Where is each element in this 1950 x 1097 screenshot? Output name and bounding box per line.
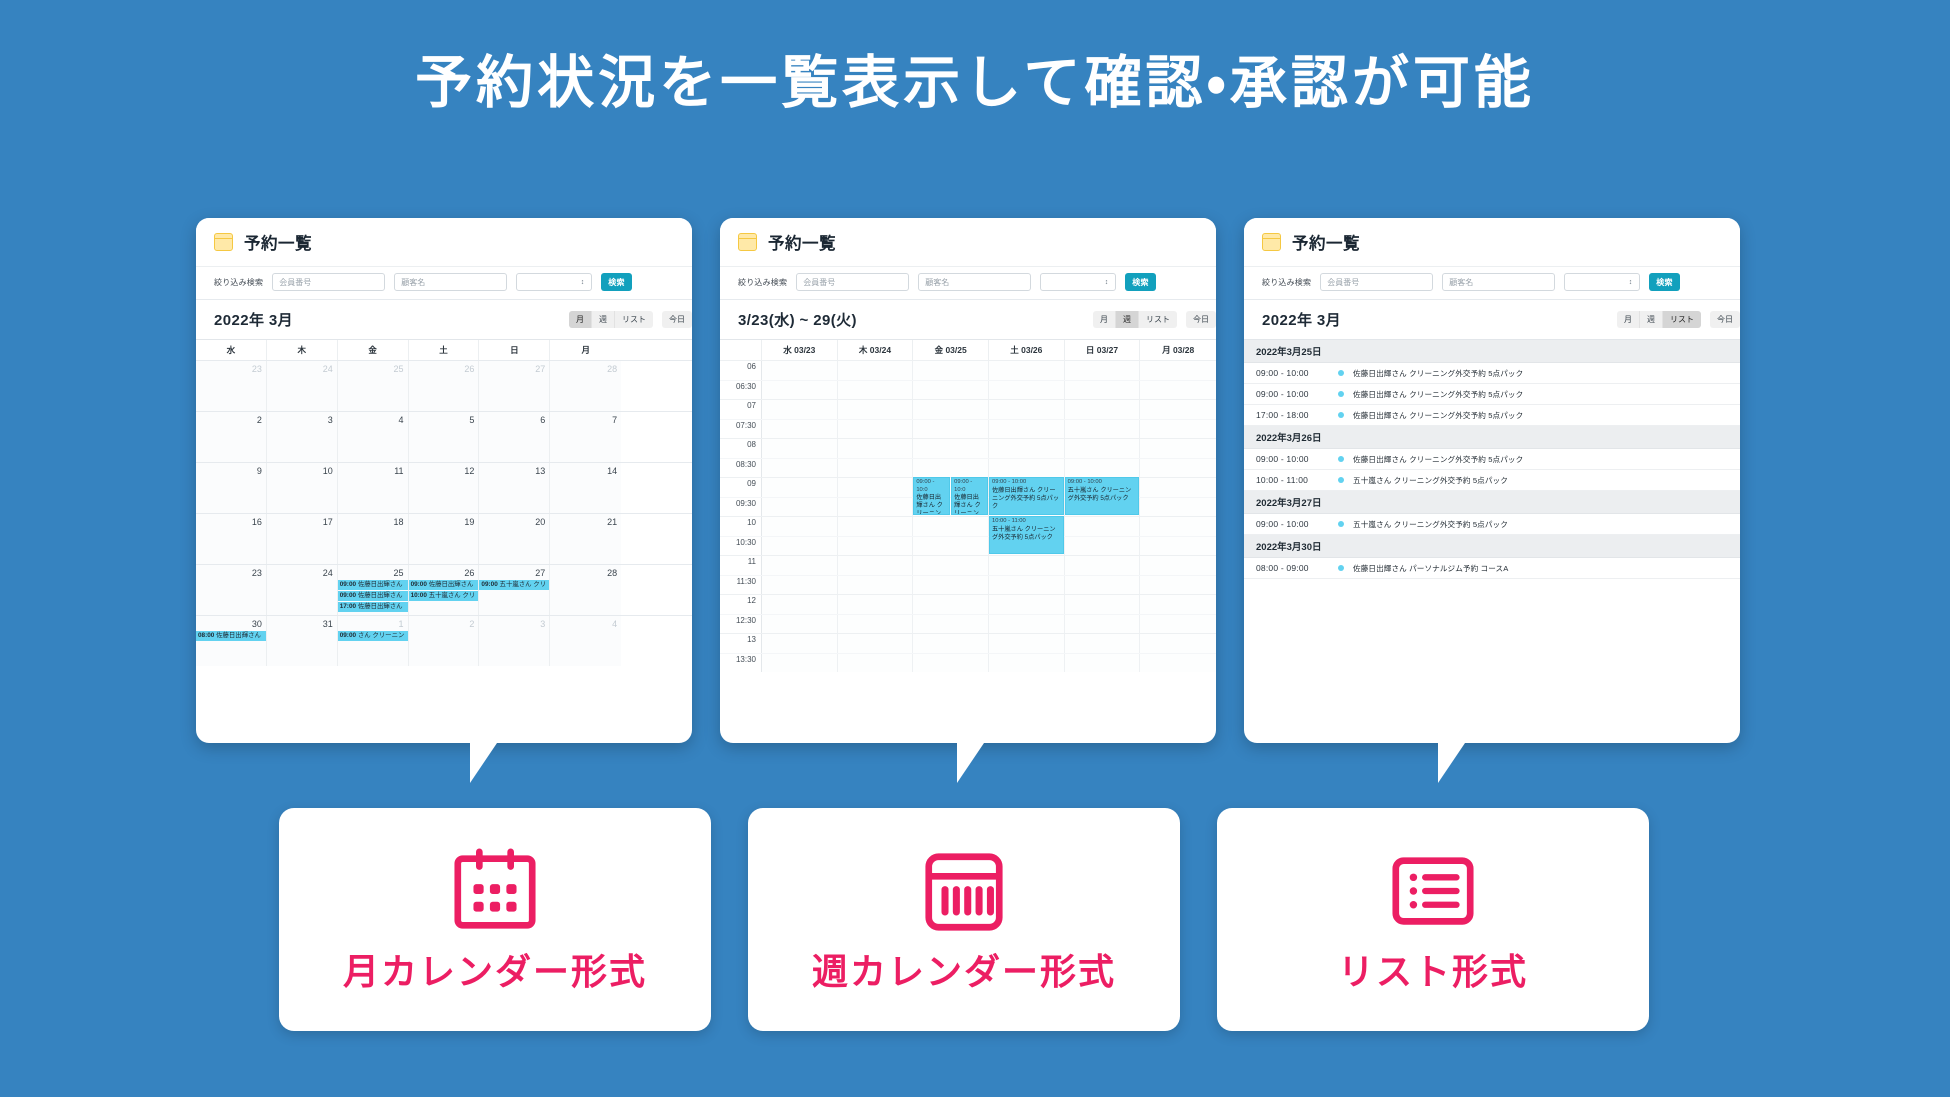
month-day-cell[interactable]: 18 [338, 514, 409, 564]
view-month-button[interactable]: 月 [1617, 311, 1640, 328]
member-no-input[interactable]: 会員番号 [1320, 273, 1433, 291]
week-slot-cell[interactable] [762, 420, 838, 439]
week-slot-cell[interactable] [762, 615, 838, 634]
week-slot-cell[interactable] [913, 498, 989, 517]
week-slot-cell[interactable] [1140, 556, 1216, 575]
week-slot-cell[interactable] [1140, 517, 1216, 536]
list-date-header: 2022年3月26日 [1244, 426, 1740, 449]
week-time-label: 07 [720, 400, 762, 419]
event-time: 08:00 [198, 632, 214, 639]
filter-label: 絞り込み検索 [214, 277, 263, 288]
week-slot-cell[interactable] [1065, 459, 1141, 478]
month-day-cell[interactable]: 31 [267, 616, 338, 666]
filter-select[interactable]: ↕ [516, 273, 592, 291]
day-number: 25 [338, 567, 408, 580]
feature-cards: 月カレンダー形式 週カレンダー形式 リスト形 [0, 808, 1950, 1038]
week-slot-cell[interactable] [989, 439, 1065, 458]
month-day-cell[interactable]: 6 [479, 412, 550, 462]
week-slot-cell[interactable] [913, 420, 989, 439]
month-day-cell[interactable]: 26 [409, 361, 480, 411]
week-slot-cell[interactable] [1140, 459, 1216, 478]
week-slot-cell[interactable] [838, 459, 914, 478]
week-day-header: 土 03/26 [989, 340, 1065, 360]
week-time-label: 12 [720, 595, 762, 614]
month-view-panel: 予約一覧 絞り込み検索 会員番号 顧客名 ↕ 検索 2022年 3月 月 週 リ… [196, 218, 692, 743]
week-slot-cell[interactable] [913, 381, 989, 400]
page-title: 予約状況を一覧表示して確認・承認が可能 [0, 48, 1950, 119]
week-slot-cell[interactable] [1140, 400, 1216, 419]
week-slot-cell[interactable] [989, 576, 1065, 595]
list-item[interactable]: 10:00 - 11:00五十嵐さん クリーニング外交予約 5点パック [1244, 470, 1740, 491]
chevron-updown-icon: ↕ [1629, 279, 1633, 286]
month-day-headers: 水木金土日月 [196, 340, 692, 360]
month-calendar-icon [448, 845, 542, 939]
week-grid: 水 03/23木 03/24金 03/25土 03/26日 03/27月 03/… [720, 339, 1216, 672]
list-item-time: 09:00 - 10:00 [1256, 368, 1338, 378]
week-slot-cell[interactable] [913, 400, 989, 419]
week-slot-cell[interactable] [838, 654, 914, 673]
week-slot-cell[interactable] [838, 517, 914, 536]
today-button[interactable]: 今日 [1710, 311, 1740, 328]
week-time-row: 10 [720, 516, 1216, 536]
week-time-row: 06 [720, 360, 1216, 380]
month-day-cell[interactable]: 3 [267, 412, 338, 462]
day-number: 6 [479, 414, 549, 427]
week-slot-cell[interactable] [838, 615, 914, 634]
week-slot-cell[interactable] [1140, 595, 1216, 614]
list-item-time: 09:00 - 10:00 [1256, 519, 1338, 529]
month-day-cell[interactable]: 20 [479, 514, 550, 564]
month-day-cell[interactable]: 3008:00 佐藤日出輝さん [196, 616, 267, 666]
period-title: 3/23(水) ~ 29(火) [738, 309, 857, 330]
week-time-label: 09 [720, 478, 762, 497]
month-day-cell[interactable]: 19 [409, 514, 480, 564]
week-time-row: 10:30 [720, 536, 1216, 556]
week-slot-cell[interactable] [913, 361, 989, 380]
week-time-label: 08:30 [720, 459, 762, 478]
week-slot-cell[interactable] [989, 595, 1065, 614]
month-day-cell[interactable]: 7 [550, 412, 621, 462]
list-item[interactable]: 08:00 - 09:00佐藤日出輝さん パーソナルジム予約 コースA [1244, 558, 1740, 579]
week-time-row: 07:30 [720, 419, 1216, 439]
week-slot-cell[interactable] [762, 478, 838, 497]
week-slot-cell[interactable] [838, 498, 914, 517]
view-week-button[interactable]: 週 [592, 311, 615, 328]
week-slot-cell[interactable] [762, 517, 838, 536]
week-slot-cell[interactable] [838, 595, 914, 614]
week-slot-cell[interactable] [989, 361, 1065, 380]
week-slot-cell[interactable] [1065, 381, 1141, 400]
week-slot-cell[interactable] [1065, 615, 1141, 634]
list-item-time: 08:00 - 09:00 [1256, 563, 1338, 573]
month-day-cell[interactable]: 5 [409, 412, 480, 462]
week-slot-cell[interactable] [913, 478, 989, 497]
week-slot-cell[interactable] [913, 556, 989, 575]
filter-label: 絞り込み検索 [1262, 277, 1311, 288]
week-day-header: 木 03/24 [838, 340, 914, 360]
week-day-header: 水 03/23 [762, 340, 838, 360]
month-week-row: 91011121314 [196, 462, 692, 513]
search-button[interactable]: 検索 [1649, 273, 1680, 291]
week-corner-cell [720, 340, 762, 360]
week-time-row: 13:30 [720, 653, 1216, 673]
month-day-cell[interactable]: 23 [196, 361, 267, 411]
month-week-row: 161718192021 [196, 513, 692, 564]
week-slot-cell[interactable] [989, 381, 1065, 400]
month-day-cell[interactable]: 28 [550, 361, 621, 411]
week-calendar-icon [917, 845, 1011, 939]
week-slot-cell[interactable] [1065, 439, 1141, 458]
month-event[interactable]: 10:00 五十嵐さん クリ [409, 591, 479, 601]
week-slot-cell[interactable] [838, 381, 914, 400]
day-number: 2 [409, 618, 479, 631]
view-month-button[interactable]: 月 [1093, 311, 1116, 328]
search-button[interactable]: 検索 [1125, 273, 1156, 291]
week-slot-cell[interactable] [1065, 654, 1141, 673]
week-slot-cell[interactable] [1065, 361, 1141, 380]
month-day-cell[interactable]: 16 [196, 514, 267, 564]
view-switcher: 月 週 リスト 今日 [569, 311, 692, 328]
week-time-label: 11 [720, 556, 762, 575]
view-list-button[interactable]: リスト [1139, 311, 1177, 328]
month-week-row: 3008:00 佐藤日出輝さん31109:00 さん クリーニン234 [196, 615, 692, 666]
view-week-button[interactable]: 週 [1116, 311, 1139, 328]
week-slot-cell[interactable] [838, 420, 914, 439]
day-number: 16 [196, 516, 266, 529]
week-slot-cell[interactable] [1065, 595, 1141, 614]
week-day-headers: 水 03/23木 03/24金 03/25土 03/26日 03/27月 03/… [720, 340, 1216, 360]
card-list-view[interactable]: リスト形式 [1217, 808, 1649, 1031]
week-time-label: 08 [720, 439, 762, 458]
week-slot-cell[interactable] [989, 400, 1065, 419]
month-week-row: 234567 [196, 411, 692, 462]
customer-name-input[interactable]: 顧客名 [1442, 273, 1555, 291]
week-slot-cell[interactable] [762, 498, 838, 517]
today-button[interactable]: 今日 [1186, 311, 1216, 328]
day-number: 1 [338, 618, 408, 631]
week-slot-cell[interactable] [989, 615, 1065, 634]
week-slot-cell[interactable] [1065, 537, 1141, 556]
week-slot-cell[interactable] [913, 615, 989, 634]
week-time-label: 12:30 [720, 615, 762, 634]
week-slot-cell[interactable] [913, 517, 989, 536]
week-slot-cell[interactable] [1065, 576, 1141, 595]
week-slot-cell[interactable] [989, 420, 1065, 439]
day-number: 28 [550, 567, 621, 580]
day-number: 24 [267, 567, 337, 580]
list-item[interactable]: 09:00 - 10:00五十嵐さん クリーニング外交予約 5点パック [1244, 514, 1740, 535]
member-no-input[interactable]: 会員番号 [272, 273, 385, 291]
week-slot-cell[interactable] [989, 654, 1065, 673]
week-time-label: 06:30 [720, 381, 762, 400]
list-item-time: 17:00 - 18:00 [1256, 410, 1338, 420]
event-title: 佐藤日出輝さん [356, 592, 403, 599]
week-time-label: 13:30 [720, 654, 762, 673]
chevron-updown-icon: ↕ [581, 279, 585, 286]
day-number: 14 [550, 465, 621, 478]
callout-pointer-month [470, 743, 497, 783]
week-slot-cell[interactable] [838, 478, 914, 497]
week-time-row: 08:30 [720, 458, 1216, 478]
week-slot-cell[interactable] [1140, 537, 1216, 556]
week-slot-cell[interactable] [1140, 634, 1216, 653]
week-slot-cell[interactable] [838, 361, 914, 380]
month-day-cell[interactable]: 14 [550, 463, 621, 513]
week-slot-cell[interactable] [1065, 517, 1141, 536]
week-slot-cell[interactable] [762, 556, 838, 575]
week-slot-cell[interactable] [913, 654, 989, 673]
week-time-label: 07:30 [720, 420, 762, 439]
month-day-cell[interactable]: 9 [196, 463, 267, 513]
month-day-cell[interactable]: 13 [479, 463, 550, 513]
month-day-cell[interactable]: 12 [409, 463, 480, 513]
week-slot-cell[interactable] [1140, 654, 1216, 673]
event-time: 09:00 [340, 592, 356, 599]
view-list-button[interactable]: リスト [615, 311, 653, 328]
status-dot-icon [1338, 412, 1344, 418]
period-title: 2022年 3月 [214, 309, 293, 330]
week-slot-cell[interactable] [1140, 361, 1216, 380]
week-day-header: 月 03/28 [1140, 340, 1216, 360]
week-slot-cell[interactable] [1065, 478, 1141, 497]
week-slot-cell[interactable] [838, 400, 914, 419]
status-dot-icon [1338, 456, 1344, 462]
day-number: 24 [267, 363, 337, 376]
week-slot-cell[interactable] [762, 595, 838, 614]
week-slot-cell[interactable] [989, 634, 1065, 653]
month-day-cell[interactable]: 24 [267, 565, 338, 615]
week-time-label: 13 [720, 634, 762, 653]
list-date-header: 2022年3月30日 [1244, 535, 1740, 558]
week-slot-cell[interactable] [913, 634, 989, 653]
week-slot-cell[interactable] [762, 654, 838, 673]
search-button[interactable]: 検索 [601, 273, 632, 291]
week-slot-cell[interactable] [838, 576, 914, 595]
filter-select[interactable]: ↕ [1564, 273, 1640, 291]
week-time-row: 09:30 [720, 497, 1216, 517]
week-toolbar: 3/23(水) ~ 29(火) 月 週 リスト 今日 [720, 300, 1216, 339]
week-time-row: 11 [720, 555, 1216, 575]
month-day-cell[interactable]: 2 [196, 412, 267, 462]
week-day-header: 金 03/25 [913, 340, 989, 360]
day-number: 23 [196, 363, 266, 376]
month-day-cell[interactable]: 109:00 さん クリーニン [338, 616, 409, 666]
week-slot-cell[interactable] [762, 634, 838, 653]
month-toolbar: 2022年 3月 月 週 リスト 今日 [196, 300, 692, 339]
view-month-button[interactable]: 月 [569, 311, 592, 328]
month-day-cell[interactable]: 2 [409, 616, 480, 666]
week-slot-cell[interactable] [989, 537, 1065, 556]
event-title: 佐藤日出輝さん [427, 581, 474, 588]
list-item[interactable]: 09:00 - 10:00佐藤日出輝さん クリーニング外交予約 5点パック [1244, 363, 1740, 384]
week-slot-cell[interactable] [913, 576, 989, 595]
day-number: 21 [550, 516, 621, 529]
list-item-title: 佐藤日出輝さん クリーニング外交予約 5点パック [1353, 454, 1523, 465]
view-week-button[interactable]: 週 [1640, 311, 1663, 328]
event-title: 佐藤日出輝さん [356, 603, 403, 610]
month-day-cell[interactable]: 4 [550, 616, 621, 666]
week-slot-cell[interactable] [1140, 420, 1216, 439]
event-time: 09:00 [411, 581, 427, 588]
week-slot-cell[interactable] [1140, 576, 1216, 595]
month-day-header: 金 [338, 340, 409, 360]
week-slot-cell[interactable] [838, 537, 914, 556]
week-slot-cell[interactable] [838, 634, 914, 653]
week-slot-cell[interactable] [762, 439, 838, 458]
list-item-title: 佐藤日出輝さん クリーニング外交予約 5点パック [1353, 368, 1523, 379]
month-day-cell[interactable]: 23 [196, 565, 267, 615]
card-week-calendar[interactable]: 週カレンダー形式 [748, 808, 1180, 1031]
panel-header: 予約一覧 [1244, 218, 1740, 266]
event-time: 09:00 [481, 581, 497, 588]
period-title: 2022年 3月 [1262, 309, 1341, 330]
filter-select[interactable]: ↕ [1040, 273, 1116, 291]
month-day-cell[interactable]: 17 [267, 514, 338, 564]
week-slot-cell[interactable] [838, 556, 914, 575]
member-no-input[interactable]: 会員番号 [796, 273, 909, 291]
list-date-header: 2022年3月27日 [1244, 491, 1740, 514]
week-time-row: 13 [720, 633, 1216, 653]
month-day-cell[interactable]: 25 [338, 361, 409, 411]
week-time-row: 11:30 [720, 575, 1216, 595]
day-number: 23 [196, 567, 266, 580]
month-event[interactable]: 17:00 佐藤日出輝さん [338, 602, 408, 612]
list-item[interactable]: 09:00 - 10:00佐藤日出輝さん クリーニング外交予約 5点パック [1244, 449, 1740, 470]
month-day-cell[interactable]: 21 [550, 514, 621, 564]
month-day-cell[interactable]: 3 [479, 616, 550, 666]
today-button[interactable]: 今日 [662, 311, 692, 328]
week-slot-cell[interactable] [1065, 634, 1141, 653]
week-slot-cell[interactable] [1065, 420, 1141, 439]
day-number: 13 [479, 465, 549, 478]
view-switcher: 月 週 リスト 今日 [1093, 311, 1216, 328]
week-slot-cell[interactable] [989, 498, 1065, 517]
month-day-header: 日 [479, 340, 550, 360]
week-slot-cell[interactable] [1065, 400, 1141, 419]
week-slot-cell[interactable] [762, 459, 838, 478]
list-item[interactable]: 09:00 - 10:00佐藤日出輝さん クリーニング外交予約 5点パック [1244, 384, 1740, 405]
month-day-cell[interactable]: 24 [267, 361, 338, 411]
month-day-cell[interactable]: 4 [338, 412, 409, 462]
panels-row: 予約一覧 絞り込み検索 会員番号 顧客名 ↕ 検索 2022年 3月 月 週 リ… [0, 218, 1950, 748]
week-view-panel: 予約一覧 絞り込み検索 会員番号 顧客名 ↕ 検索 3/23(水) ~ 29(火… [720, 218, 1216, 743]
month-event[interactable]: 09:00 さん クリーニン [338, 631, 408, 641]
week-slot-cell[interactable] [1065, 556, 1141, 575]
filter-bar: 絞り込み検索 会員番号 顧客名 ↕ 検索 [720, 266, 1216, 300]
status-dot-icon [1338, 521, 1344, 527]
list-date-header: 2022年3月25日 [1244, 340, 1740, 363]
week-slot-cell[interactable] [989, 478, 1065, 497]
week-slot-cell[interactable] [1140, 478, 1216, 497]
status-dot-icon [1338, 565, 1344, 571]
list-item-title: 五十嵐さん クリーニング外交予約 5点パック [1353, 475, 1508, 486]
week-slot-cell[interactable] [1140, 498, 1216, 517]
month-event[interactable]: 08:00 佐藤日出輝さん [196, 631, 266, 641]
month-event[interactable]: 09:00 五十嵐さん クリ [479, 580, 549, 590]
list-item-title: 佐藤日出輝さん クリーニング外交予約 5点パック [1353, 410, 1523, 421]
callout-pointer-list [1438, 743, 1465, 783]
month-day-cell[interactable]: 10 [267, 463, 338, 513]
week-slot-cell[interactable] [838, 439, 914, 458]
card-month-calendar[interactable]: 月カレンダー形式 [279, 808, 711, 1031]
week-slot-cell[interactable] [989, 459, 1065, 478]
month-day-cell[interactable]: 28 [550, 565, 621, 615]
panel-header: 予約一覧 [196, 218, 692, 266]
week-slot-cell[interactable] [1140, 381, 1216, 400]
month-event[interactable]: 09:00 佐藤日出輝さん [409, 580, 479, 590]
day-number: 7 [550, 414, 621, 427]
card-label: リスト形式 [1338, 943, 1528, 995]
month-day-cell[interactable]: 11 [338, 463, 409, 513]
month-week-row: 23242509:00 佐藤日出輝さん09:00 佐藤日出輝さん17:00 佐藤… [196, 564, 692, 615]
card-label: 週カレンダー形式 [812, 943, 1116, 995]
week-time-row: 09 [720, 477, 1216, 497]
list-item-time: 10:00 - 11:00 [1256, 475, 1338, 485]
week-slot-cell[interactable] [1140, 439, 1216, 458]
month-day-cell[interactable]: 2609:00 佐藤日出輝さん10:00 五十嵐さん クリ [409, 565, 480, 615]
list-view-panel: 予約一覧 絞り込み検索 会員番号 顧客名 ↕ 検索 2022年 3月 月 週 リ… [1244, 218, 1740, 743]
chevron-updown-icon: ↕ [1105, 279, 1109, 286]
event-title: 佐藤日出輝さん [356, 581, 403, 588]
customer-name-input[interactable]: 顧客名 [918, 273, 1031, 291]
day-number: 3 [479, 618, 549, 631]
week-slot-cell[interactable] [762, 576, 838, 595]
week-time-row: 12 [720, 594, 1216, 614]
week-slot-cell[interactable] [913, 459, 989, 478]
month-event[interactable]: 09:00 佐藤日出輝さん [338, 591, 408, 601]
week-slot-cell[interactable] [989, 556, 1065, 575]
calendar-icon [1262, 233, 1281, 251]
customer-name-input[interactable]: 顧客名 [394, 273, 507, 291]
month-weeks: 2324252627282345679101112131416171819202… [196, 360, 692, 666]
week-slot-cell[interactable] [913, 537, 989, 556]
week-time-label: 06 [720, 361, 762, 380]
week-slot-cell[interactable] [1065, 498, 1141, 517]
week-slot-cell[interactable] [762, 381, 838, 400]
panel-title: 予約一覧 [244, 230, 312, 254]
day-number: 28 [550, 363, 621, 376]
week-day-header: 日 03/27 [1065, 340, 1141, 360]
day-number: 18 [338, 516, 408, 529]
week-time-label: 11:30 [720, 576, 762, 595]
status-dot-icon [1338, 477, 1344, 483]
view-list-button[interactable]: リスト [1663, 311, 1701, 328]
month-day-cell[interactable]: 2509:00 佐藤日出輝さん09:00 佐藤日出輝さん17:00 佐藤日出輝さ… [338, 565, 409, 615]
week-slot-cell[interactable] [913, 439, 989, 458]
event-title: 五十嵐さん クリ [427, 592, 475, 599]
week-time-row: 07 [720, 399, 1216, 419]
list-item[interactable]: 17:00 - 18:00佐藤日出輝さん クリーニング外交予約 5点パック [1244, 405, 1740, 426]
day-number: 27 [479, 363, 549, 376]
panel-title: 予約一覧 [768, 230, 836, 254]
week-slot-cell[interactable] [762, 537, 838, 556]
week-slot-cell[interactable] [1140, 615, 1216, 634]
week-time-row: 08 [720, 438, 1216, 458]
week-slot-cell[interactable] [989, 517, 1065, 536]
week-slot-cell[interactable] [762, 361, 838, 380]
day-number: 12 [409, 465, 479, 478]
filter-bar: 絞り込み検索 会員番号 顧客名 ↕ 検索 [196, 266, 692, 300]
status-dot-icon [1338, 391, 1344, 397]
week-slot-cell[interactable] [762, 400, 838, 419]
week-slot-cell[interactable] [913, 595, 989, 614]
week-time-label: 10:30 [720, 537, 762, 556]
day-number: 2 [196, 414, 266, 427]
month-day-cell[interactable]: 2709:00 五十嵐さん クリ [479, 565, 550, 615]
month-event[interactable]: 09:00 佐藤日出輝さん [338, 580, 408, 590]
card-label: 月カレンダー形式 [343, 943, 647, 995]
month-day-cell[interactable]: 27 [479, 361, 550, 411]
